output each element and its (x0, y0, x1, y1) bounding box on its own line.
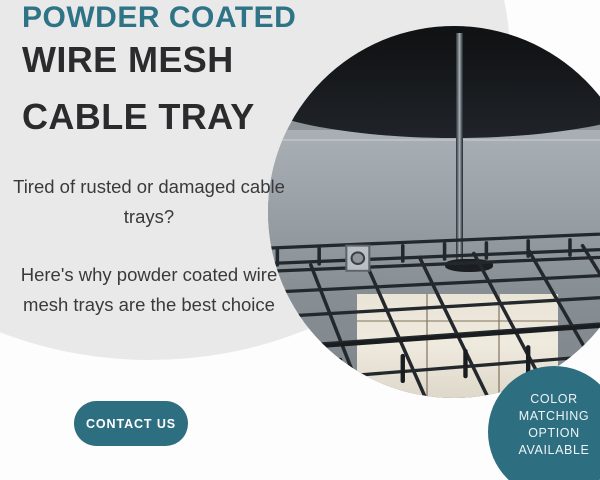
photo-wall-seam (268, 139, 600, 141)
body-copy: Tired of rusted or damaged cable trays? … (10, 172, 288, 320)
body-paragraph-spacer (10, 232, 288, 260)
contact-us-button[interactable]: CONTACT US (74, 401, 188, 446)
body-paragraph-2: Here's why powder coated wire mesh trays… (10, 260, 288, 320)
badge-line-1: COLOR (519, 391, 590, 408)
body-paragraph-1: Tired of rusted or damaged cable trays? (10, 172, 288, 232)
eyebrow-text: POWDER COATED (22, 2, 296, 34)
badge-line-3: OPTION (519, 425, 590, 442)
product-photo-inner (268, 26, 600, 398)
text-column: POWDER COATED WIRE MESH CABLE TRAY Tired… (0, 0, 300, 480)
headline-line-1: WIRE MESH (22, 42, 234, 78)
photo-ceiling (268, 26, 600, 138)
tray-mounting-clip (346, 245, 369, 270)
product-photo (268, 26, 600, 398)
promo-poster: COLOR MATCHING OPTION AVAILABLE POWDER C… (0, 0, 600, 480)
color-matching-badge-text: COLOR MATCHING OPTION AVAILABLE (519, 391, 590, 459)
badge-line-2: MATCHING (519, 408, 590, 425)
headline-line-2: CABLE TRAY (22, 99, 255, 135)
badge-line-4: AVAILABLE (519, 442, 590, 459)
